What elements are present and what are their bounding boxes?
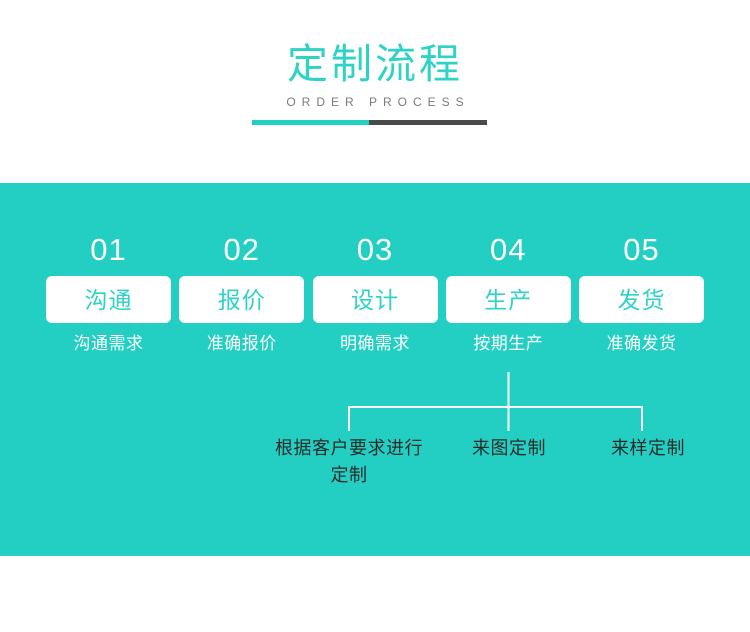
title-underline-accent	[252, 120, 369, 125]
step-card[interactable]: 报价	[179, 276, 304, 323]
step-card-label: 发货	[618, 286, 666, 314]
step-card-label: 报价	[218, 286, 266, 314]
page-subtitle: ORDER PROCESS	[0, 93, 750, 111]
step-card[interactable]: 发货	[579, 276, 704, 323]
step-card[interactable]: 设计	[313, 276, 438, 323]
process-step-03: 03 设计 明确需求	[313, 231, 438, 356]
step-description: 明确需求	[313, 332, 438, 356]
process-step-05: 05 发货 准确发货	[579, 231, 704, 356]
process-panel: 01 沟通 沟通需求 02 报价 准确报价 03 设计 明确需求 04 生产	[0, 183, 750, 556]
step-card[interactable]: 生产	[446, 276, 571, 323]
process-step-04: 04 生产 按期生产	[446, 231, 571, 356]
step-number: 02	[179, 231, 304, 269]
step-card-label: 沟通	[85, 286, 133, 314]
process-step-02: 02 报价 准确报价	[179, 231, 304, 356]
step-number: 01	[46, 231, 171, 269]
step-description: 准确报价	[179, 332, 304, 356]
process-step-01: 01 沟通 沟通需求	[46, 231, 171, 356]
process-step-list: 01 沟通 沟通需求 02 报价 准确报价 03 设计 明确需求 04 生产	[46, 231, 704, 356]
step-number: 04	[446, 231, 571, 269]
page-title: 定制流程	[0, 38, 750, 90]
step-card-label: 生产	[484, 286, 532, 314]
page-header: 定制流程 ORDER PROCESS	[0, 0, 750, 183]
step-card[interactable]: 沟通	[46, 276, 171, 323]
customization-note: 根据客户要求进行定制	[266, 435, 432, 489]
step-description: 按期生产	[446, 332, 571, 356]
customization-note: 来图定制	[440, 435, 578, 462]
step-card-label: 设计	[351, 286, 399, 314]
customization-note-list: 根据客户要求进行定制 来图定制 来样定制	[0, 435, 750, 525]
step-number: 05	[579, 231, 704, 269]
step-description: 准确发货	[579, 332, 704, 356]
step-number: 03	[313, 231, 438, 269]
step-description: 沟通需求	[46, 332, 171, 356]
title-underline-dark	[369, 120, 487, 125]
customization-note: 来样定制	[578, 435, 718, 462]
